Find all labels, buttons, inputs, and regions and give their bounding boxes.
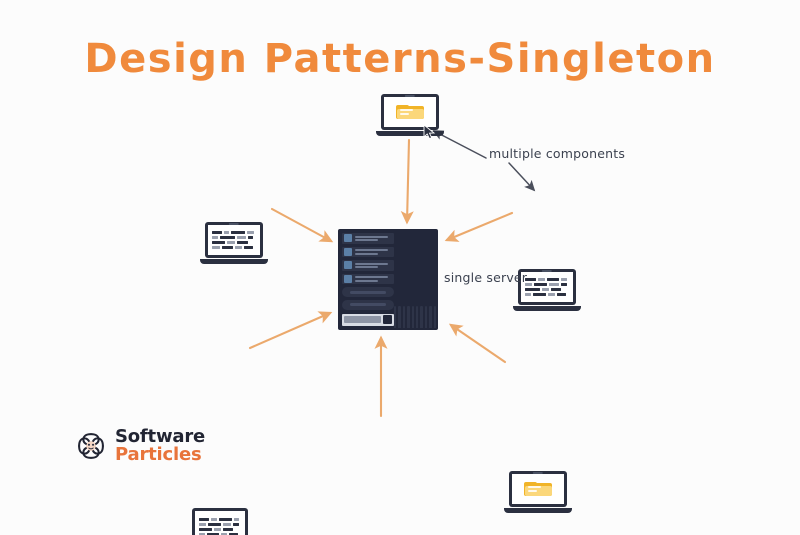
- laptop-base: [504, 508, 572, 513]
- laptop-screen: [384, 97, 436, 127]
- server-drive-slot: [342, 300, 394, 310]
- arrow-top-to-server: [407, 140, 409, 222]
- callout-arrow-to-right-laptop: [509, 163, 534, 190]
- server-bay-led-icon: [344, 275, 352, 283]
- server-switch-module-icon: [383, 315, 392, 324]
- laptop-screen: [512, 474, 564, 504]
- server-bay-led-icon: [344, 248, 352, 256]
- laptop-base: [200, 259, 268, 264]
- client-top[interactable]: [381, 94, 439, 136]
- client-lower-left[interactable]: [192, 508, 248, 535]
- server-bay-lines: [355, 263, 394, 269]
- server-vents-icon: [394, 306, 436, 328]
- server-bay-led-icon: [344, 234, 352, 242]
- arrow-lower-right-to-server: [451, 325, 505, 362]
- server-rack-icon[interactable]: [338, 229, 438, 330]
- folder-icon: [396, 105, 424, 120]
- server-bay: [342, 260, 394, 271]
- server-bays: [342, 233, 394, 326]
- mouse-cursor-icon: [423, 124, 437, 140]
- monitor-bezel: [192, 508, 248, 535]
- server-bay-lines: [355, 236, 394, 242]
- client-lower-right[interactable]: [509, 471, 567, 513]
- laptop-base: [513, 306, 581, 311]
- client-upper-left[interactable]: [205, 222, 263, 264]
- server-bay: [342, 274, 394, 285]
- laptop-lid: [509, 471, 567, 507]
- server-bay-lines: [355, 276, 394, 282]
- arrow-lower-left-to-server: [250, 313, 330, 348]
- multiple-components-label: multiple components: [489, 146, 625, 161]
- folder-icon: [524, 482, 552, 497]
- server-switch-unit: [342, 314, 394, 327]
- server-bay-led-icon: [344, 261, 352, 269]
- logo[interactable]: Software Particles: [74, 428, 205, 464]
- laptop-screen: [208, 225, 260, 255]
- atom-particles-icon: [74, 429, 108, 463]
- logo-text: Software Particles: [115, 428, 205, 464]
- server-bay: [342, 233, 394, 244]
- laptop-screen: [521, 272, 573, 302]
- arrow-upper-right-to-server: [447, 213, 512, 240]
- server-bay: [342, 247, 394, 258]
- page-title: Design Patterns-Singleton: [0, 36, 800, 82]
- arrow-upper-left-to-server: [272, 209, 331, 241]
- logo-line-particles: Particles: [115, 446, 205, 464]
- single-server-label: single server: [444, 270, 527, 285]
- server-bay-lines: [355, 249, 394, 255]
- server-switch-ports-icon: [344, 316, 381, 323]
- server-drive-slot: [342, 287, 394, 297]
- monitor-screen: [195, 511, 245, 535]
- diagram-canvas: Design Patterns-Singleton: [0, 0, 800, 535]
- laptop-lid: [205, 222, 263, 258]
